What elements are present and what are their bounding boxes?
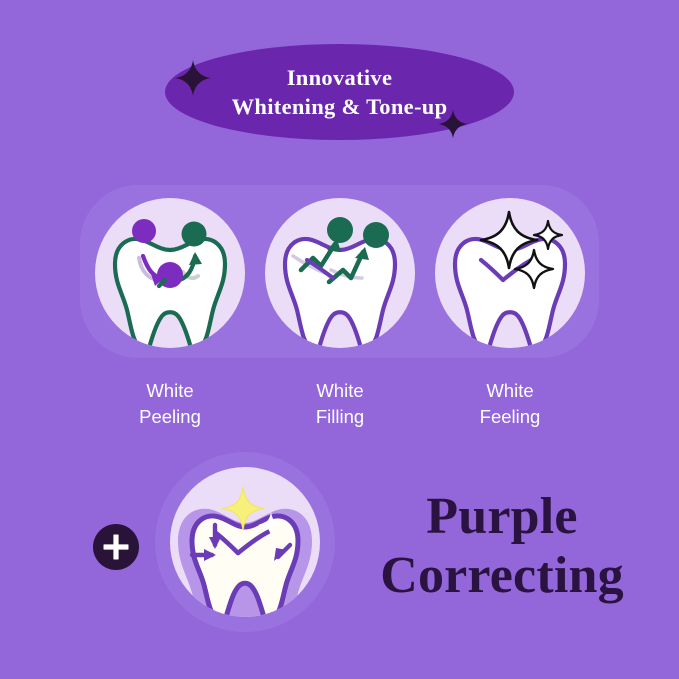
white-peeling-illustration <box>95 198 245 348</box>
purple-correcting-illustration <box>170 467 320 617</box>
white-filling-illustration <box>265 198 415 348</box>
banner-line-2: Whitening & Tone-up <box>232 92 448 121</box>
step-label-line-2: Feeling <box>435 404 585 430</box>
headline-line-1: Purple <box>352 487 652 546</box>
step-label-white-feeling: White Feeling <box>435 378 585 430</box>
plus-icon <box>93 524 139 570</box>
green-stain-dot <box>182 222 207 247</box>
step-label-line-2: Filling <box>265 404 415 430</box>
step-label-white-filling: White Filling <box>265 378 415 430</box>
step-circle-white-filling <box>265 198 415 348</box>
step-circle-white-peeling <box>95 198 245 348</box>
step-circle-white-feeling <box>435 198 585 348</box>
banner-line-1: Innovative <box>287 63 393 92</box>
purple-stain-dot <box>132 219 156 243</box>
page-title: Purple Correcting <box>352 487 652 605</box>
plus-badge <box>93 524 139 570</box>
banner-text: Innovative Whitening & Tone-up <box>165 44 514 140</box>
step-label-line-2: Peeling <box>95 404 245 430</box>
green-fill-dot-right <box>363 222 389 248</box>
feature-circle-purple-correcting <box>170 467 320 617</box>
headline-line-2: Correcting <box>352 546 652 605</box>
step-label-line-1: White <box>95 378 245 404</box>
banner: Innovative Whitening & Tone-up <box>165 44 514 140</box>
steps-panel <box>80 185 599 358</box>
step-label-line-1: White <box>435 378 585 404</box>
step-label-white-peeling: White Peeling <box>95 378 245 430</box>
white-feeling-illustration <box>435 198 585 348</box>
green-fill-dot-left <box>327 217 353 243</box>
step-label-line-1: White <box>265 378 415 404</box>
poster-canvas: Innovative Whitening & Tone-up <box>0 0 679 679</box>
